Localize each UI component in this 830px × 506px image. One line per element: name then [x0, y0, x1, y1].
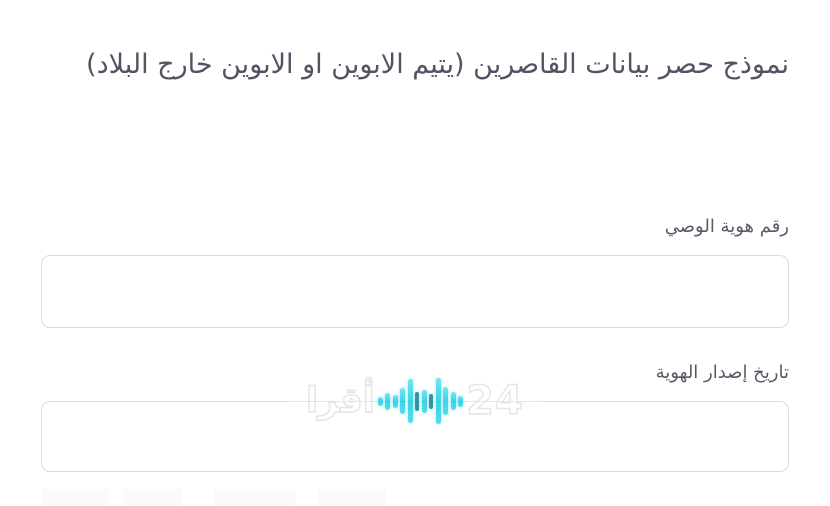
- page-bottom-ghost-row: [41, 489, 789, 506]
- page-title: نموذج حصر بيانات القاصرين (يتيم الابوين …: [41, 44, 789, 85]
- form-field-id-issue-date: تاريخ إصدار الهوية: [41, 361, 789, 472]
- id-issue-date-input[interactable]: [41, 401, 789, 472]
- guardian-id-label: رقم هوية الوصي: [41, 215, 789, 239]
- id-issue-date-label: تاريخ إصدار الهوية: [41, 361, 789, 385]
- guardian-id-input[interactable]: [41, 255, 789, 328]
- form-field-guardian-id: رقم هوية الوصي: [41, 215, 789, 328]
- form-page: نموذج حصر بيانات القاصرين (يتيم الابوين …: [0, 0, 830, 506]
